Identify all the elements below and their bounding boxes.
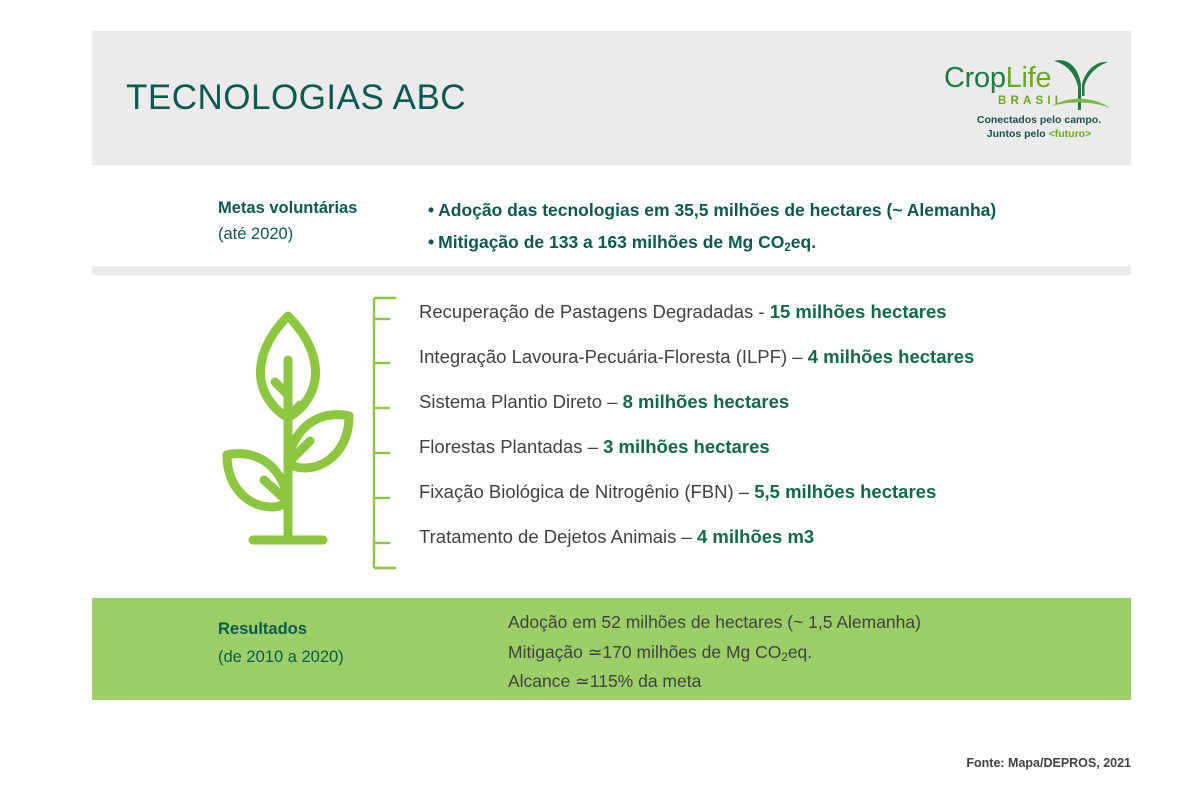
- list-item: Florestas Plantadas – 3 milhões hectares: [419, 438, 1119, 483]
- results-line: Adoção em 52 milhões de hectares (~ 1,5 …: [508, 608, 921, 638]
- logo-word-crop: Crop: [944, 62, 1006, 94]
- tech-label: Integração Lavoura-Pecuária-Floresta (IL…: [419, 346, 808, 367]
- logo-tagline-line2-prefix: Juntos pelo: [987, 128, 1049, 140]
- list-item: Fixação Biológica de Nitrogênio (FBN) – …: [419, 483, 1119, 528]
- page-title: TECNOLOGIAS ABC: [126, 78, 466, 118]
- tech-label: Fixação Biológica de Nitrogênio (FBN) –: [419, 481, 754, 502]
- goals-label: Metas voluntárias (até 2020): [218, 195, 418, 248]
- results-label-sub: (de 2010 a 2020): [218, 644, 344, 672]
- list-item: Integração Lavoura-Pecuária-Floresta (IL…: [419, 348, 1119, 393]
- plant-sprout-icon: [218, 300, 358, 565]
- tech-label: Recuperação de Pastagens Degradadas -: [419, 301, 770, 322]
- tech-label: Tratamento de Dejetos Animais –: [419, 526, 697, 547]
- list-item: Tratamento de Dejetos Animais – 4 milhõe…: [419, 528, 1119, 573]
- tech-value: 8 milhões hectares: [623, 391, 790, 412]
- results-line-text: Mitigação ≃170 milhões de Mg CO: [508, 642, 781, 662]
- logo-tagline: Conectados pelo campo. Juntos pelo <futu…: [959, 113, 1119, 141]
- goals-bullet-text-tail: eq.: [791, 232, 816, 252]
- goals-label-main: Metas voluntárias: [218, 195, 418, 221]
- goals-bullet-item: •Adoção das tecnologias em 35,5 milhões …: [428, 195, 996, 227]
- logo-tagline-line1: Conectados pelo campo.: [977, 114, 1101, 126]
- tech-label: Florestas Plantadas –: [419, 436, 603, 457]
- list-item: Recuperação de Pastagens Degradadas - 15…: [419, 303, 1119, 348]
- source-note: Fonte: Mapa/DEPROS, 2021: [0, 756, 1131, 770]
- tech-value: 4 milhões hectares: [808, 346, 975, 367]
- results-lines: Adoção em 52 milhões de hectares (~ 1,5 …: [508, 608, 921, 697]
- results-line-text: Alcance ≃115% da meta: [508, 671, 701, 691]
- goals-bullet-text: Adoção das tecnologias em 35,5 milhões d…: [438, 200, 996, 220]
- section-divider: [92, 266, 1131, 275]
- results-line-tail: eq.: [788, 642, 812, 662]
- goals-bullet-list: •Adoção das tecnologias em 35,5 milhões …: [428, 195, 996, 259]
- tech-value: 3 milhões hectares: [603, 436, 770, 457]
- results-label-main: Resultados: [218, 616, 344, 644]
- bullet-marker-icon: •: [428, 200, 434, 220]
- goals-bullet-text: Mitigação de 133 a 163 milhões de Mg CO: [438, 232, 784, 252]
- goals-label-sub: (até 2020): [218, 221, 418, 247]
- logo-tagline-accent: <futuro>: [1049, 128, 1092, 140]
- sprout-icon: [1048, 52, 1114, 118]
- bullet-marker-icon: •: [428, 232, 434, 252]
- tech-value: 15 milhões hectares: [770, 301, 947, 322]
- goals-bullet-item: •Mitigação de 133 a 163 milhões de Mg CO…: [428, 227, 996, 259]
- tech-label: Sistema Plantio Direto –: [419, 391, 623, 412]
- results-label: Resultados (de 2010 a 2020): [218, 616, 344, 671]
- logo-wordmark: CropLife: [944, 64, 1051, 93]
- croplife-brasil-logo: CropLife BRASIL Conectados pelo campo. J…: [944, 56, 1116, 148]
- technologies-list: Recuperação de Pastagens Degradadas - 15…: [419, 303, 1119, 573]
- tech-value: 4 milhões m3: [697, 526, 814, 547]
- list-item: Sistema Plantio Direto – 8 milhões hecta…: [419, 393, 1119, 438]
- tech-value: 5,5 milhões hectares: [754, 481, 936, 502]
- results-line-text: Adoção em 52 milhões de hectares (~ 1,5 …: [508, 612, 921, 632]
- results-line: Alcance ≃115% da meta: [508, 667, 921, 697]
- results-line: Mitigação ≃170 milhões de Mg CO2eq.: [508, 638, 921, 668]
- bracket-icon: [372, 296, 406, 570]
- logo-word-life: Life: [1006, 62, 1052, 94]
